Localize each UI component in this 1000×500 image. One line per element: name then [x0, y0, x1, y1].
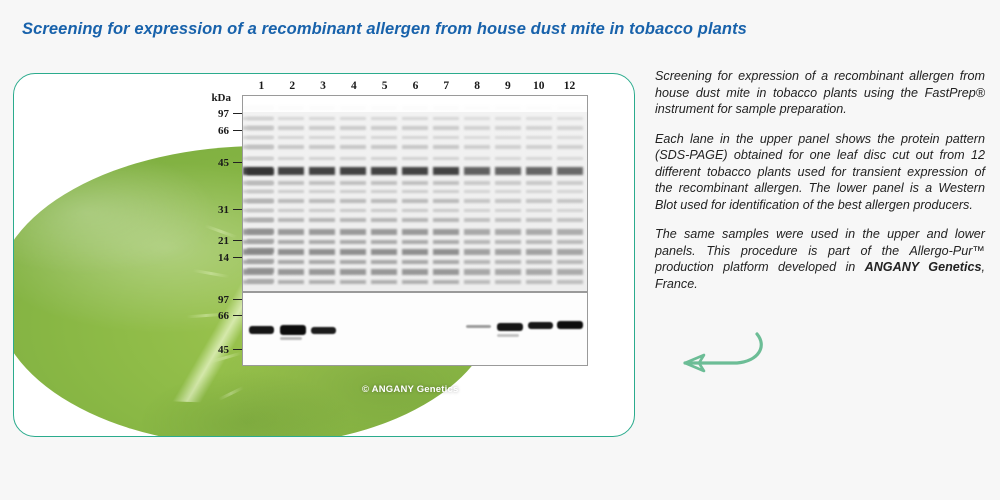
marker-31-label: 31: [218, 204, 229, 216]
marker-45-label: 45: [218, 157, 229, 169]
kda-axis-header: kDa: [211, 92, 231, 104]
sds-page-image: [243, 96, 587, 291]
marker-tick-icon: [233, 130, 242, 132]
caption-paragraph-1: Screening for expression of a recombinan…: [655, 68, 985, 118]
marker-tick-icon: [233, 162, 242, 164]
marker-97-lower: 97: [218, 294, 242, 306]
marker-tick-icon: [233, 315, 242, 317]
sds-page-panel: [242, 95, 588, 292]
marker-97-lower-label: 97: [218, 294, 229, 306]
marker-97: 97: [218, 108, 242, 120]
marker-tick-icon: [233, 349, 242, 351]
marker-14: 14: [218, 252, 242, 264]
caption-paragraph-2: Each lane in the upper panel shows the p…: [655, 131, 985, 214]
marker-45: 45: [218, 157, 242, 169]
figure-card: 1 2 3 4 5 6 7 8 9 10 12 kDa 97 66 45: [13, 73, 635, 437]
gel-figure: 1 2 3 4 5 6 7 8 9 10 12 kDa 97 66 45: [14, 74, 634, 436]
marker-tick-icon: [233, 209, 242, 211]
marker-14-label: 14: [218, 252, 229, 264]
marker-66: 66: [218, 125, 242, 137]
page-title: Screening for expression of a recombinan…: [22, 20, 747, 39]
caption-panel: Screening for expression of a recombinan…: [655, 68, 985, 292]
marker-66-lower-label: 66: [218, 310, 229, 322]
marker-66-label: 66: [218, 125, 229, 137]
marker-tick-icon: [233, 257, 242, 259]
marker-tick-icon: [233, 240, 242, 242]
western-blot-panel: [242, 292, 588, 366]
western-blot-image: [243, 293, 587, 365]
lower-panel-marker-axis: 97 66 45: [190, 292, 242, 364]
copyright-notice: © ANGANY Genetics: [362, 384, 458, 395]
marker-45-lower: 45: [218, 344, 242, 356]
marker-45-lower-label: 45: [218, 344, 229, 356]
callout-arrow-icon: [655, 330, 785, 382]
upper-panel-marker-axis: kDa 97 66 45 31 21 14: [190, 94, 242, 290]
marker-31: 31: [218, 204, 242, 216]
marker-66-lower: 66: [218, 310, 242, 322]
curved-arrow-left-icon: [655, 330, 785, 382]
marker-tick-icon: [233, 299, 242, 301]
marker-97-label: 97: [218, 108, 229, 120]
brand-name: ANGANY Genetics: [865, 260, 982, 274]
marker-tick-icon: [233, 113, 242, 115]
caption-paragraph-3: The same samples were used in the upper …: [655, 226, 985, 292]
marker-21: 21: [218, 235, 242, 247]
marker-21-label: 21: [218, 235, 229, 247]
